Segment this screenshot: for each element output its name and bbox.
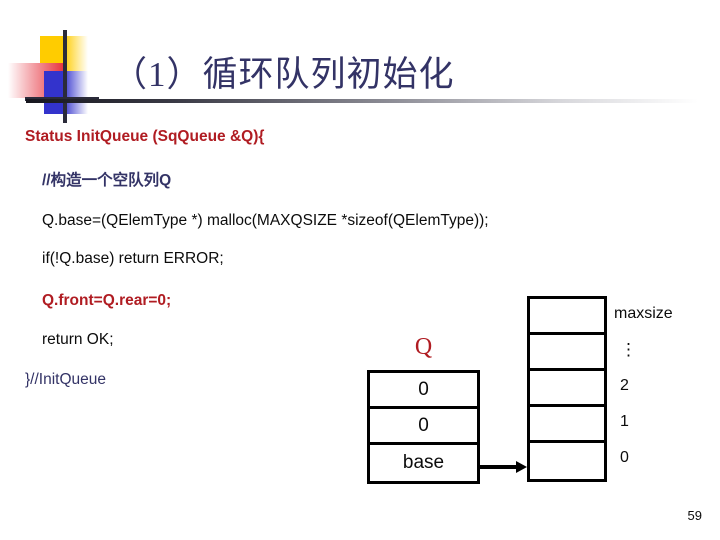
array-label-0: 0: [614, 440, 714, 476]
slide-decoration-logo: [0, 18, 130, 118]
q-struct-box: 0 0 base: [367, 370, 480, 484]
array-label-1: 1: [614, 404, 714, 440]
code-line-returnok: return OK;: [42, 331, 114, 349]
code-line-malloc: Q.base=(QElemType *) malloc(MAXQSIZE *si…: [42, 212, 489, 230]
array-index-labels: maxsize ⋮ 2 1 0: [614, 296, 714, 476]
logo-vertical-line: [63, 30, 67, 123]
array-label-maxsize: maxsize: [614, 296, 714, 332]
q-struct-cell-rear: 0: [370, 373, 477, 409]
array-storage-box: [527, 296, 607, 482]
q-struct-cell-front: 0: [370, 409, 477, 445]
array-cell-1: [530, 407, 604, 443]
array-cell-2: [530, 371, 604, 407]
code-line-signature: Status InitQueue (SqQueue &Q){: [25, 128, 264, 146]
array-label-ellipsis: ⋮: [614, 332, 714, 368]
code-line-errorcheck: if(!Q.base) return ERROR;: [42, 250, 224, 268]
base-pointer-arrow: [480, 461, 527, 473]
array-cell-ellipsis: [530, 335, 604, 371]
code-line-endbrace: }//InitQueue: [25, 371, 106, 389]
array-label-2: 2: [614, 368, 714, 404]
array-cell-maxsize: [530, 299, 604, 335]
array-cell-0: [530, 443, 604, 479]
arrow-head: [516, 461, 527, 473]
title-underline-rule: [26, 99, 698, 103]
page-number: 59: [688, 508, 702, 523]
page-title: （1）循环队列初始化: [112, 46, 455, 97]
code-line-frontrear: Q.front=Q.rear=0;: [42, 292, 171, 310]
code-line-comment: //构造一个空队列Q: [42, 168, 171, 190]
arrow-shaft: [480, 465, 518, 469]
q-struct-label: Q: [367, 334, 480, 361]
q-struct-cell-base: base: [370, 445, 477, 481]
